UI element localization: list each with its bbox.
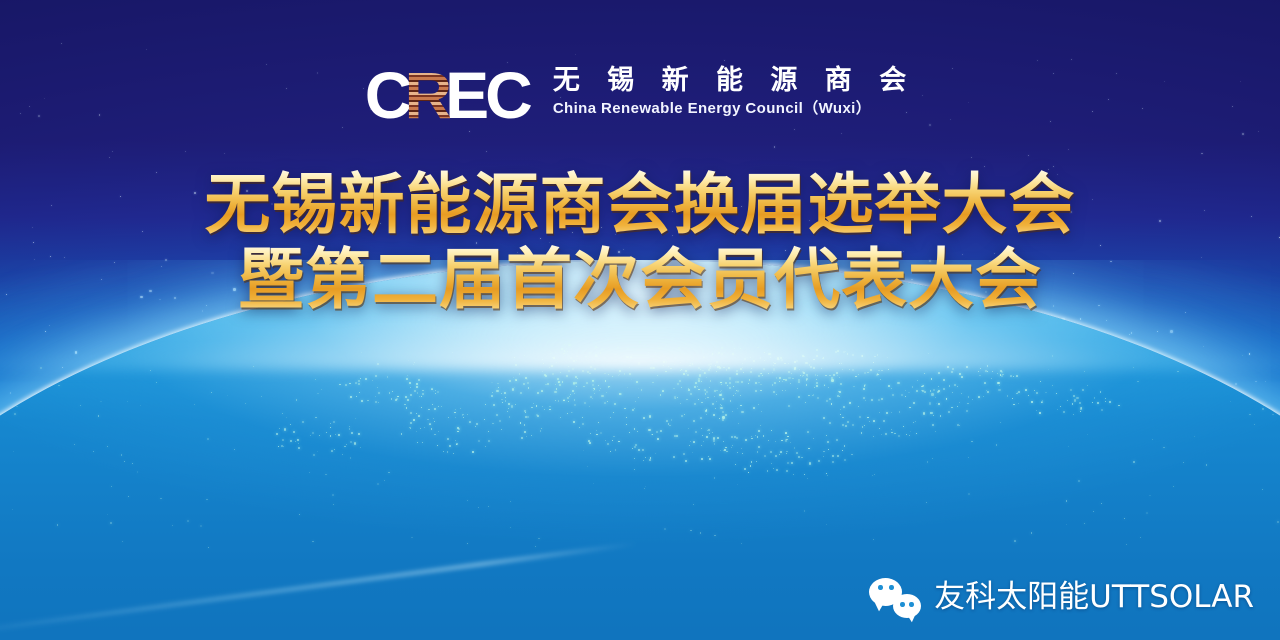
wechat-bubble-front [893, 594, 921, 618]
event-meta: 2018年6月28日 中国 · 无锡 [0, 372, 1280, 410]
wechat-dot-3 [900, 602, 905, 607]
event-title: 无锡新能源商会换届选举大会 暨第二届首次会员代表大会 [0, 168, 1280, 317]
logo-name-block: 无 锡 新 能 源 商 会 China Renewable Energy Cou… [553, 62, 915, 116]
logo-chinese-name: 无 锡 新 能 源 商 会 [553, 66, 915, 95]
wechat-dot-1 [878, 585, 883, 590]
wechat-icon [869, 576, 921, 618]
event-date: 2018年6月28日 [349, 372, 658, 410]
logo-letter-c2: C [485, 62, 531, 128]
wechat-watermark: 友科太阳能UTTSOLAR [869, 576, 1254, 618]
conference-banner: C R E C 无 锡 新 能 源 商 会 China Renewable En… [0, 0, 1280, 640]
event-title-line-1: 无锡新能源商会换届选举大会 [0, 168, 1280, 243]
logo-letter-e: E [445, 62, 487, 128]
logo-english-name: China Renewable Energy Council（Wuxi） [553, 101, 915, 116]
crec-acronym: C R E C [365, 62, 531, 130]
wechat-account-name: 友科太阳能UTTSOLAR [934, 582, 1254, 613]
event-location: 中国 · 无锡 [732, 372, 932, 410]
crec-logo: C R E C 无 锡 新 能 源 商 会 China Renewable En… [0, 62, 1280, 130]
logo-letter-r-solar-stripes: R [404, 62, 450, 128]
wechat-dot-4 [909, 602, 914, 607]
wechat-dot-2 [889, 585, 894, 590]
event-title-line-2: 暨第二届首次会员代表大会 [0, 243, 1280, 318]
